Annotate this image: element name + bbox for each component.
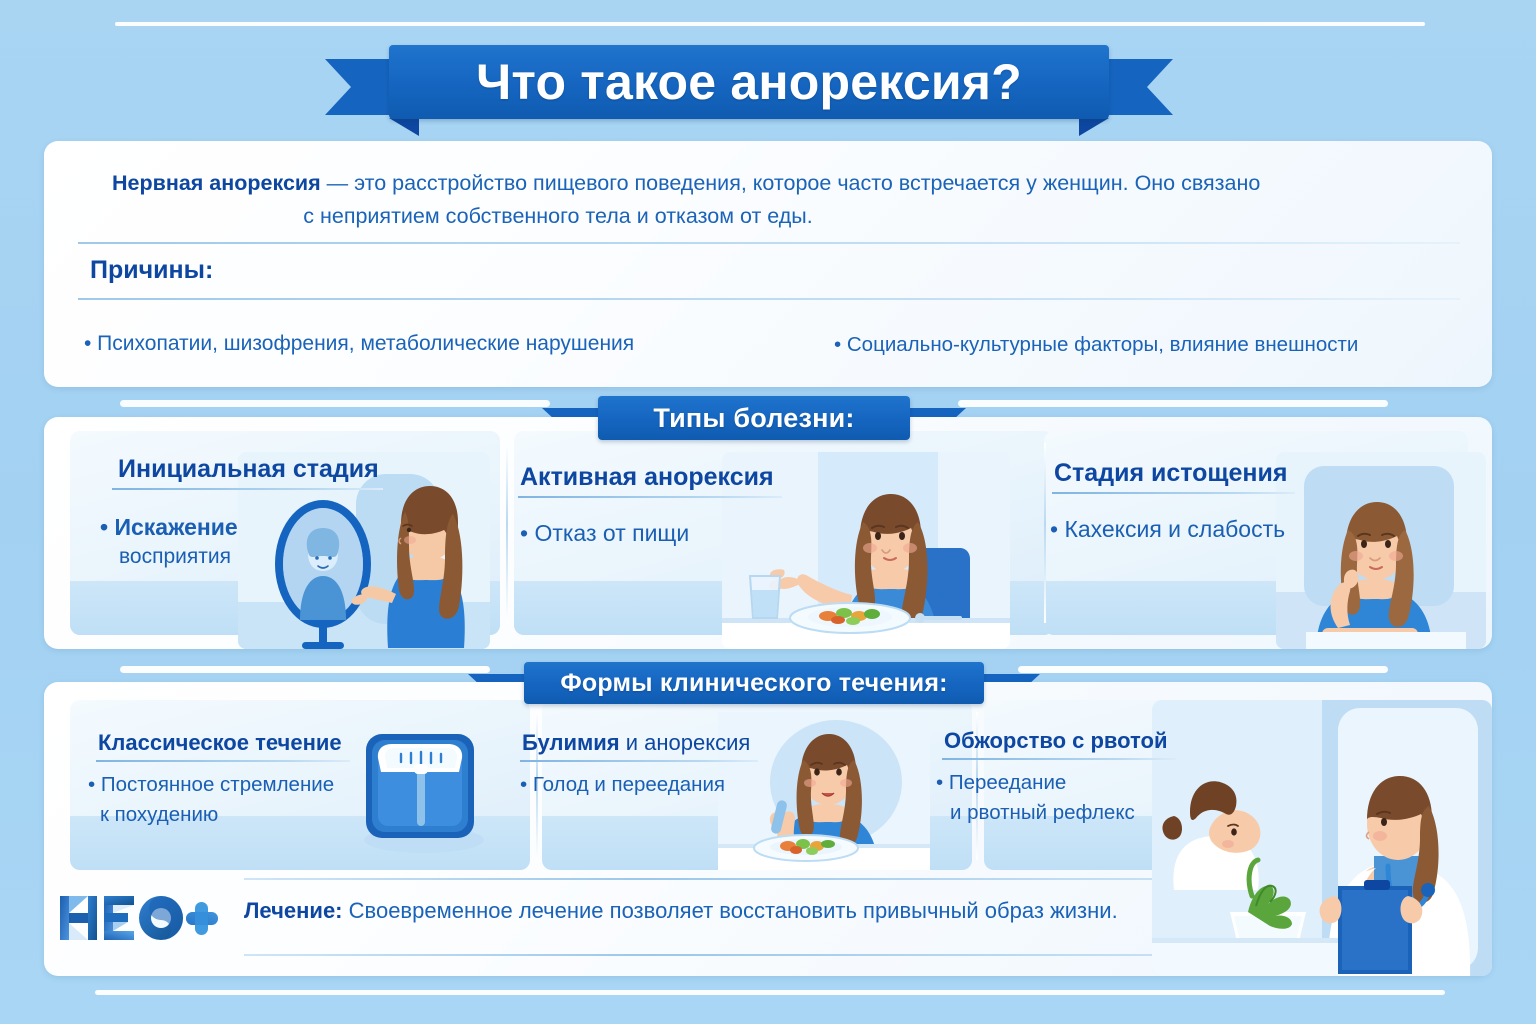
form-card-1-title-soft: и анорексия <box>620 730 751 755</box>
bullet-line-2: и рвотный рефлекс <box>936 798 1135 828</box>
intro-rest: — это расстройство пищевого поведения, к… <box>321 171 1261 195</box>
ribbon-fold-left-icon <box>389 118 419 136</box>
types-section-ribbon: Типы болезни: <box>598 396 910 440</box>
cause-item-0: • Психопатии, шизофрения, метаболические… <box>84 332 634 356</box>
type-card-2-underline <box>1052 492 1295 494</box>
type-card-0-bullet: • Искажение восприятия <box>100 512 238 572</box>
form-card-0-title: Классическое течение <box>98 730 342 756</box>
form-card-1-bullet: • Голод и переедания <box>520 770 725 800</box>
page-title-plate: Что такое анорексия? <box>389 45 1109 119</box>
form-card-2-title: Обжорство с рвотой <box>944 728 1168 754</box>
bullet-line-1: • Отказ от пищи <box>520 518 689 548</box>
type-card-1-underline <box>518 496 782 498</box>
ribbon-fold-right-icon <box>1079 118 1109 136</box>
forms-section-ribbon: Формы клинического течения: <box>524 662 984 704</box>
form-card-0-bullet: • Постоянное стремление к похудению <box>88 770 334 830</box>
type-card-2-bullet: • Кахексия и слабость <box>1050 514 1285 544</box>
treatment-rule-lower <box>244 954 1404 956</box>
intro-paragraph: Нервная анорексия — это расстройство пищ… <box>78 167 1458 233</box>
bullet-line-1: • Постоянное стремление <box>88 770 334 800</box>
type-card-1-title: Активная анорексия <box>520 463 774 492</box>
type-card-1-bullet: • Отказ от пищи <box>520 518 689 548</box>
form-card-1-title-bold: Булимия <box>522 730 620 755</box>
bullet-line-2: восприятия <box>100 542 238 572</box>
infographic-page: Что такое анорексия? Нервная анорексия —… <box>0 0 1536 1024</box>
intro-lead-term: Нервная анорексия <box>112 171 321 195</box>
type-card-2-title: Стадия истощения <box>1054 459 1287 488</box>
type-card-0-underline <box>112 488 383 490</box>
intro-rule-upper <box>78 242 1460 244</box>
intro-line-1: Нервная анорексия — это расстройство пищ… <box>78 167 1458 200</box>
form-card-2-bullet: • Переедание и рвотный рефлекс <box>936 768 1135 828</box>
forms-banner-plate: Формы клинического течения: <box>524 662 984 704</box>
card-bottom-band <box>1044 581 1468 635</box>
page-title: Что такое анорексия? <box>476 53 1022 111</box>
treatment-rule-upper <box>244 878 1394 880</box>
bullet-line-1: • Переедание <box>936 768 1135 798</box>
card-bottom-band <box>70 581 500 635</box>
treatment-body: Своевременное лечение позволяет восстано… <box>343 898 1118 923</box>
card-separator <box>1044 443 1046 623</box>
intro-panel: Нервная анорексия — это расстройство пищ… <box>44 141 1492 387</box>
bullet-line-2: к похудению <box>88 800 334 830</box>
card-bottom-band <box>542 816 972 870</box>
intro-rule-lower <box>78 298 1460 300</box>
forms-banner-label: Формы клинического течения: <box>560 669 947 698</box>
form-card-2-underline <box>942 758 1176 760</box>
form-card-1-underline <box>520 760 758 762</box>
treatment-label: Лечение: <box>244 898 343 923</box>
top-divider-rule <box>115 22 1425 26</box>
page-title-ribbon: Что такое анорексия? <box>389 45 1109 119</box>
cause-item-1: • Социально-культурные факторы, влияние … <box>834 333 1358 357</box>
ribbon-tail-left-icon <box>325 59 397 115</box>
ribbon-tail-right-icon <box>1101 59 1173 115</box>
types-banner-plate: Типы болезни: <box>598 396 910 440</box>
types-banner-label: Типы болезни: <box>653 403 854 434</box>
bullet-line-1: • Искажение <box>100 512 238 542</box>
bullet-line-1: • Голод и переедания <box>520 770 725 800</box>
card-bottom-band <box>514 581 1054 635</box>
causes-heading: Причины: <box>90 256 213 285</box>
form-card-1-title: Булимия и анорексия <box>522 730 750 756</box>
card-separator <box>506 443 508 623</box>
form-card-0-underline <box>96 760 350 762</box>
forms-divider-rule-left <box>120 666 490 673</box>
bullet-line-1: • Кахексия и слабость <box>1050 514 1285 544</box>
section-divider-rule-left <box>120 400 550 407</box>
intro-line-2: с неприятием собственного тела и отказом… <box>78 200 1458 233</box>
treatment-text: Лечение: Своевременное лечение позволяет… <box>244 898 1118 924</box>
section-divider-rule-right <box>958 400 1388 407</box>
bottom-divider-rule <box>95 990 1445 995</box>
neo-plus-logo <box>58 890 218 946</box>
type-card-0-title: Инициальная стадия <box>118 455 379 484</box>
forms-divider-rule-right <box>1018 666 1388 673</box>
